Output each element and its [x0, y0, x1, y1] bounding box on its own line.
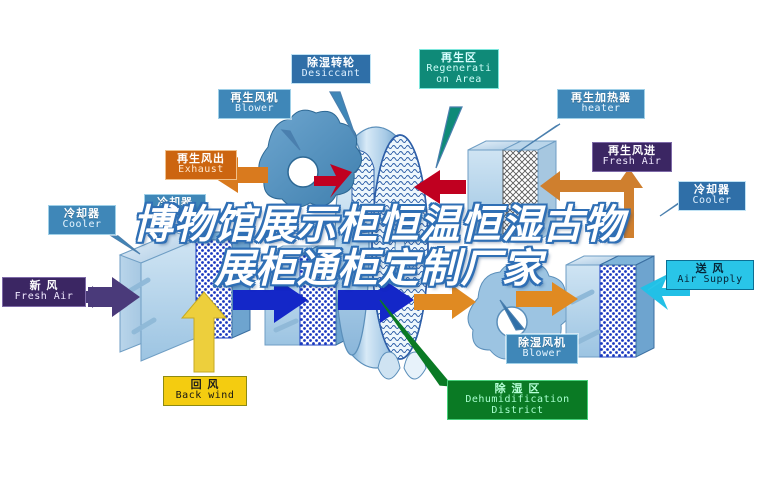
- label-dehumidification-district: 除 湿 区 Dehumidification District: [447, 380, 588, 420]
- label-cooler-right: 冷却器 Cooler: [678, 181, 746, 211]
- label-regeneration-area: 再生区 Regenerati on Area: [419, 49, 499, 89]
- label-regen-heater: 再生加热器 heater: [557, 89, 645, 119]
- label-regen-fresh-air-in-en: Fresh Air: [598, 157, 666, 168]
- label-cooler-right-en: Cooler: [684, 196, 740, 207]
- label-regen-blower: 再生风机 Blower: [218, 89, 291, 119]
- label-regen-heater-en: heater: [563, 104, 639, 115]
- label-fresh-air-in-en: Fresh Air: [8, 292, 80, 303]
- label-regen-blower-en: Blower: [224, 104, 285, 115]
- diagram-canvas: 再生风机 Blower 除湿转轮 Desiccant 再生区 Regenerat…: [0, 0, 757, 488]
- label-regen-exhaust: 再生风出 Exhaust: [165, 150, 237, 180]
- label-air-supply-en: Air Supply: [672, 275, 748, 286]
- label-cooler-left: 冷却器 Cooler: [48, 205, 116, 235]
- label-cooler-left-en: Cooler: [54, 220, 110, 231]
- regen-heater-unit: [468, 141, 556, 240]
- regen-blower-unit: [259, 110, 362, 207]
- label-regen-fresh-air-in: 再生风进 Fresh Air: [592, 142, 672, 172]
- label-regeneration-area-en-2: on Area: [425, 75, 493, 86]
- supply-coil-unit: [566, 256, 654, 357]
- label-fresh-air-in: 新 风 Fresh Air: [2, 277, 86, 307]
- airflow-diagram-artwork: [0, 0, 757, 488]
- label-desiccant-rotor: 除湿转轮 Desiccant: [291, 54, 371, 84]
- arrow-regen-fresh-in: [615, 168, 643, 238]
- label-dehumid-blower-en: Blower: [512, 349, 572, 360]
- label-air-supply: 送 风 Air Supply: [666, 260, 754, 290]
- label-regen-exhaust-en: Exhaust: [171, 165, 231, 176]
- label-dehumid-blower: 除湿风机 Blower: [506, 334, 578, 364]
- label-cooler-mid-cn: 冷却器: [150, 197, 200, 209]
- label-desiccant-rotor-en: Desiccant: [297, 69, 365, 80]
- label-back-wind-en: Back wind: [169, 391, 241, 402]
- label-dehumidification-district-en-2: District: [453, 406, 582, 417]
- label-back-wind: 回 风 Back wind: [163, 376, 247, 406]
- label-cooler-mid: 冷却器: [144, 194, 206, 216]
